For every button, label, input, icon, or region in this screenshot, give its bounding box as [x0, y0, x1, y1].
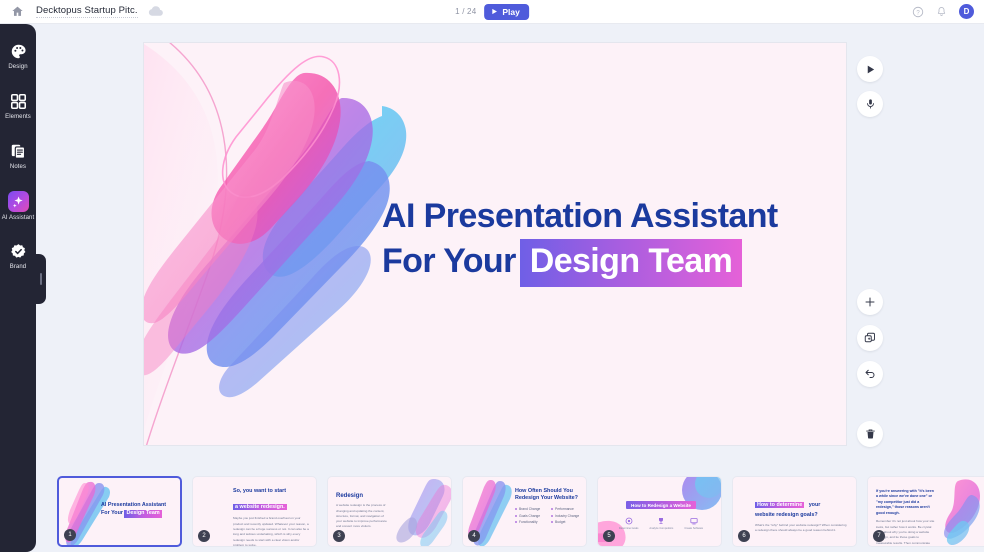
thumb-title: If you're answering with "it's been a wh… — [876, 489, 936, 517]
thumb-title: How Often Should You Redesign Your Websi… — [515, 488, 583, 504]
thumb-number: 4 — [468, 530, 480, 542]
thumb-chip: How to Redesign a Website — [626, 501, 696, 509]
badge-check-icon — [9, 242, 28, 261]
thumbnail-slide-2[interactable]: So, you want to start a website redesign… — [192, 476, 317, 547]
delete-slide-button[interactable] — [857, 421, 883, 447]
slide-title-block[interactable]: AI Presentation Assistant For YourDesign… — [382, 195, 847, 287]
thumb-icon-caption: Determine Goals — [619, 527, 638, 530]
thumb-title-suffix: your — [809, 502, 821, 508]
thumb-bullet: Goals Change — [515, 514, 547, 518]
thumbnail-slide-7[interactable]: If you're answering with "it's been a wh… — [867, 476, 984, 547]
palette-icon — [9, 42, 28, 61]
slide-canvas[interactable]: AI Presentation Assistant For YourDesign… — [143, 42, 847, 446]
slide-nav: 1 / 24 Play — [455, 4, 529, 20]
monitor-icon — [690, 517, 698, 525]
plus-icon — [864, 296, 876, 308]
thumbnail-slide-5[interactable]: How to Redesign a Website Determine Goal… — [597, 476, 722, 547]
thumb-title: AI Presentation Assistant — [101, 502, 179, 510]
slide-counter: 1 / 24 — [455, 7, 476, 16]
play-button[interactable]: Play — [484, 4, 529, 20]
thumbnail-slide-4[interactable]: How Often Should You Redesign Your Websi… — [462, 476, 587, 547]
sidebar-item-elements[interactable]: Elements — [0, 81, 36, 131]
thumb-icon-cell: Create Software — [684, 517, 703, 530]
thumb-subtitle: For Your Design Team — [101, 509, 179, 518]
play-icon — [491, 8, 498, 15]
thumb-highlight: a website redesign. — [233, 504, 287, 510]
sidebar-item-brand[interactable]: Brand — [0, 231, 36, 281]
slide-title-prefix: For Your — [382, 242, 516, 280]
thumb-title: So, you want to start — [233, 488, 309, 496]
sidebar-item-ai-assistant[interactable]: AI Assistant — [0, 181, 36, 231]
target-icon — [625, 517, 633, 525]
home-icon[interactable] — [10, 5, 24, 19]
thumb-icon-row: Determine Goals Analyze Competitors Crea… — [616, 517, 706, 530]
slide-title-line2: For YourDesign Team — [382, 239, 847, 288]
slide-title-highlight: Design Team — [520, 239, 743, 288]
sidebar-item-notes-label: Notes — [10, 164, 26, 170]
thumb-icon-caption: Create Software — [684, 527, 703, 530]
notes-icon — [9, 142, 28, 161]
sidebar-item-brand-label: Brand — [10, 264, 27, 270]
thumb-highlight: Design Team — [124, 510, 161, 518]
grid-icon — [9, 92, 28, 111]
sidebar-item-design[interactable]: Design — [0, 31, 36, 81]
thumbnail-slide-1[interactable]: AI Presentation Assistant For Your Desig… — [57, 476, 182, 547]
thumb-paragraph: Maybe you just finished a brand overhaul… — [233, 516, 309, 546]
play-icon — [865, 64, 876, 75]
thumb-icon-cell: Analyze Competitors — [649, 517, 673, 530]
thumb-title: Redesign — [336, 492, 390, 501]
duplicate-slide-button[interactable] — [857, 325, 883, 351]
sidebar-collapse-handle[interactable] — [36, 254, 46, 304]
top-bar: Decktopus Startup Pitc. 1 / 24 Play ? D — [0, 0, 984, 24]
thumb-bullet: Performance — [551, 507, 583, 511]
thumb-number: 6 — [738, 530, 750, 542]
preview-play-button[interactable] — [857, 56, 883, 82]
sidebar-item-ai-assistant-label: AI Assistant — [2, 215, 35, 221]
thumb-bullet: Brand Change — [515, 507, 547, 511]
sidebar-item-design-label: Design — [8, 64, 27, 70]
thumb-paragraph: Remember it's not just about how your si… — [876, 519, 936, 546]
thumb-number: 5 — [603, 530, 615, 542]
undo-icon — [864, 368, 877, 380]
thumb-number: 2 — [198, 530, 210, 542]
thumb-bullet: Functionality — [515, 520, 547, 524]
thumb-title: How to determine your — [755, 493, 847, 511]
avatar[interactable]: D — [959, 4, 974, 19]
sidebar-item-notes[interactable]: Notes — [0, 131, 36, 181]
sidebar-item-elements-label: Elements — [5, 114, 31, 120]
thumb-bullets: Brand Change Performance Goals Change In… — [515, 507, 583, 524]
bell-icon[interactable] — [935, 5, 948, 18]
thumb-prefix: For Your — [101, 510, 123, 516]
thumb-bullet: Budget — [551, 520, 583, 524]
thumb-artwork — [934, 477, 984, 547]
thumb-number: 7 — [873, 530, 885, 542]
thumb-icon-caption: Analyze Competitors — [649, 527, 673, 530]
trash-icon — [865, 428, 876, 440]
microphone-icon — [865, 98, 876, 110]
slide-filmstrip[interactable]: AI Presentation Assistant For Your Desig… — [36, 470, 984, 552]
thumb-bullet: Industry Change — [551, 514, 583, 518]
cloud-saved-icon — [148, 6, 164, 18]
thumb-title-line2: website redesign goals? — [755, 512, 847, 520]
trophy-icon — [657, 517, 665, 525]
thumb-artwork — [384, 477, 452, 547]
svg-text:?: ? — [916, 10, 920, 16]
help-circle-icon[interactable]: ? — [911, 5, 924, 18]
thumb-icon-cell: Determine Goals — [619, 517, 638, 530]
top-bar-actions: ? D — [911, 4, 974, 19]
left-sidebar: Design Elements Notes AI Assistant Brand — [0, 24, 36, 552]
play-button-label: Play — [502, 7, 520, 17]
deck-title[interactable]: Decktopus Startup Pitc. — [36, 5, 138, 18]
thumbnail-slide-3[interactable]: Redesign A website redesign is the proce… — [327, 476, 452, 547]
undo-button[interactable] — [857, 361, 883, 387]
voice-record-button[interactable] — [857, 91, 883, 117]
thumb-number: 1 — [64, 529, 76, 541]
thumb-number: 3 — [333, 530, 345, 542]
thumbnail-slide-6[interactable]: How to determine your website redesign g… — [732, 476, 857, 547]
duplicate-slide-icon — [864, 332, 876, 344]
sparkle-icon — [8, 191, 29, 212]
workspace: AI Presentation Assistant For YourDesign… — [36, 24, 984, 552]
thumb-paragraph: A website redesign is the process of cha… — [336, 503, 390, 530]
add-slide-button[interactable] — [857, 289, 883, 315]
thumb-highlight: How to determine — [755, 502, 804, 508]
thumb-paragraph: What's the "why" behind your website red… — [755, 523, 847, 534]
slide-title-line1: AI Presentation Assistant — [382, 195, 847, 239]
